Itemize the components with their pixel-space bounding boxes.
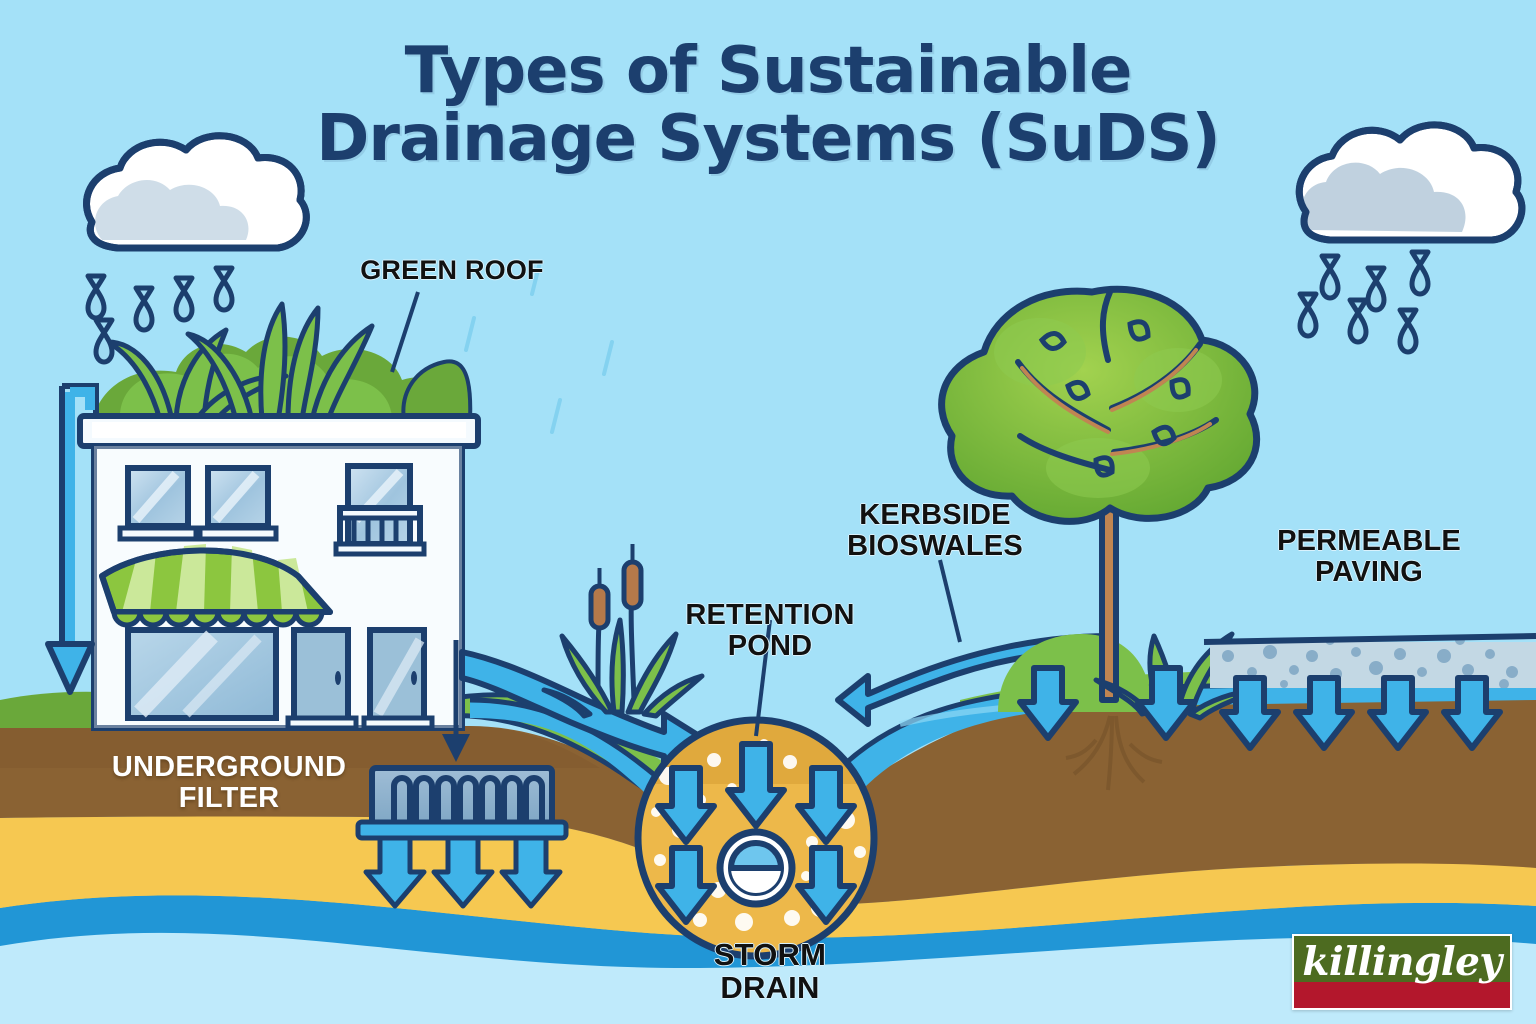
page-title: Types of Sustainable Drainage Systems (S… xyxy=(0,38,1536,174)
shopfront-window xyxy=(128,630,276,718)
killingley-logo[interactable]: killingley xyxy=(1292,934,1512,1010)
shop-building xyxy=(80,416,478,728)
logo-red-band xyxy=(1294,982,1510,1008)
window-upper-middle xyxy=(200,468,276,539)
label-green-roof: GREEN ROOF xyxy=(332,256,572,285)
label-kerbside-bioswales: KERBSIDE BIOSWALES xyxy=(826,500,1044,563)
label-underground-filter: UNDERGROUND FILTER xyxy=(70,752,388,815)
drain-pipe-cross-section xyxy=(720,832,792,904)
underground-filter-unit xyxy=(358,768,566,906)
window-upper-left xyxy=(120,468,196,539)
logo-green-band: killingley xyxy=(1294,936,1510,982)
infiltration-arrows xyxy=(366,838,560,906)
label-storm-drain: STORM DRAIN xyxy=(692,938,848,1005)
balcony-window xyxy=(336,466,424,554)
logo-wordmark: killingley xyxy=(1302,943,1501,982)
infographic-canvas: Types of Sustainable Drainage Systems (S… xyxy=(0,0,1536,1024)
label-retention-pond: RETENTION POND xyxy=(662,600,878,663)
door-left xyxy=(288,630,356,728)
door-right xyxy=(364,630,432,728)
label-permeable-paving: PERMEABLE PAVING xyxy=(1258,526,1480,589)
